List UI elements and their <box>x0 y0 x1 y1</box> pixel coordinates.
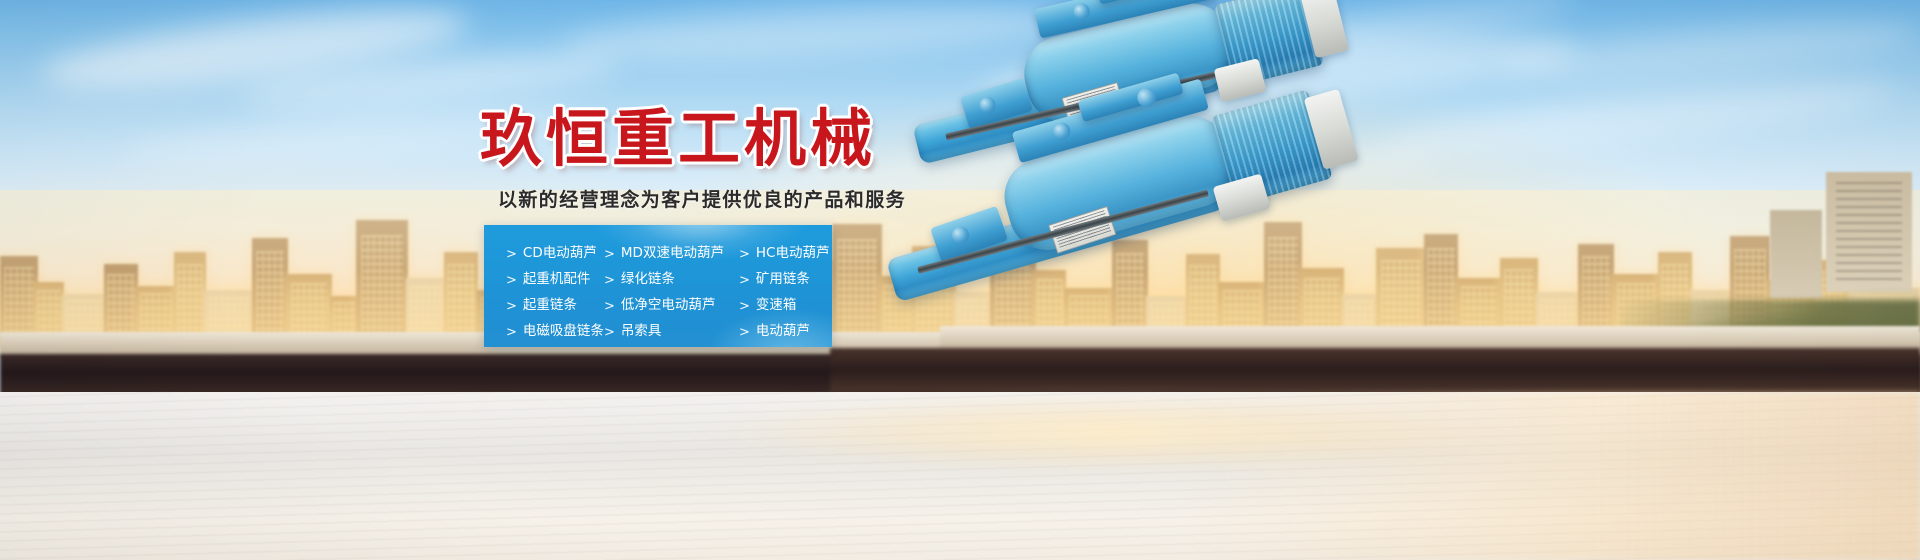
product-label: 低净空电动葫芦 <box>621 299 716 313</box>
product-label: 电动葫芦 <box>756 325 810 339</box>
product-link[interactable]: >CD电动葫芦 <box>506 241 604 267</box>
product-label: 起重机配件 <box>523 273 591 287</box>
product-label: 矿用链条 <box>756 273 810 287</box>
chevron-right-icon: > <box>506 326 517 339</box>
product-link[interactable]: >吊索具 <box>604 319 739 345</box>
chevron-right-icon: > <box>739 300 750 313</box>
product-label: 吊索具 <box>621 325 662 339</box>
chevron-right-icon: > <box>506 300 517 313</box>
product-link[interactable]: >绿化链条 <box>604 267 739 293</box>
product-label: 电磁吸盘链条 <box>523 325 604 339</box>
product-link[interactable]: >起重链条 <box>506 293 604 319</box>
product-label: 变速箱 <box>756 299 797 313</box>
chevron-right-icon: > <box>739 274 750 287</box>
chevron-right-icon: > <box>604 326 615 339</box>
product-link[interactable]: >电磁吸盘链条 <box>506 319 604 345</box>
chevron-right-icon: > <box>604 300 615 313</box>
product-link[interactable]: >变速箱 <box>739 293 832 319</box>
banner-headline: 玖恒重工机械 <box>480 108 876 170</box>
product-label: CD电动葫芦 <box>523 247 597 261</box>
chevron-right-icon: > <box>604 274 615 287</box>
banner-subheadline: 以新的经营理念为客户提供优良的产品和服务 <box>498 185 906 212</box>
product-label: 绿化链条 <box>621 273 675 287</box>
product-link[interactable]: >电动葫芦 <box>739 319 832 345</box>
product-list-grid: >CD电动葫芦>MD双速电动葫芦>HC电动葫芦>起重机配件>绿化链条>矿用链条>… <box>484 225 832 347</box>
product-label: 起重链条 <box>523 299 577 313</box>
product-list-panel: >CD电动葫芦>MD双速电动葫芦>HC电动葫芦>起重机配件>绿化链条>矿用链条>… <box>484 225 832 347</box>
product-label: MD双速电动葫芦 <box>621 247 724 261</box>
product-link[interactable]: >矿用链条 <box>739 267 832 293</box>
product-link[interactable]: >HC电动葫芦 <box>739 241 832 267</box>
product-link[interactable]: >起重机配件 <box>506 267 604 293</box>
hero-banner: 玖恒重工机械 以新的经营理念为客户提供优良的产品和服务 >CD电动葫芦>MD双速… <box>0 0 1920 560</box>
chevron-right-icon: > <box>604 248 615 261</box>
electric-hoist-illustration <box>860 40 1500 460</box>
product-label: HC电动葫芦 <box>756 247 830 261</box>
chevron-right-icon: > <box>739 326 750 339</box>
chevron-right-icon: > <box>506 274 517 287</box>
chevron-right-icon: > <box>739 248 750 261</box>
product-link[interactable]: >低净空电动葫芦 <box>604 293 739 319</box>
product-link[interactable]: >MD双速电动葫芦 <box>604 241 739 267</box>
chevron-right-icon: > <box>506 248 517 261</box>
